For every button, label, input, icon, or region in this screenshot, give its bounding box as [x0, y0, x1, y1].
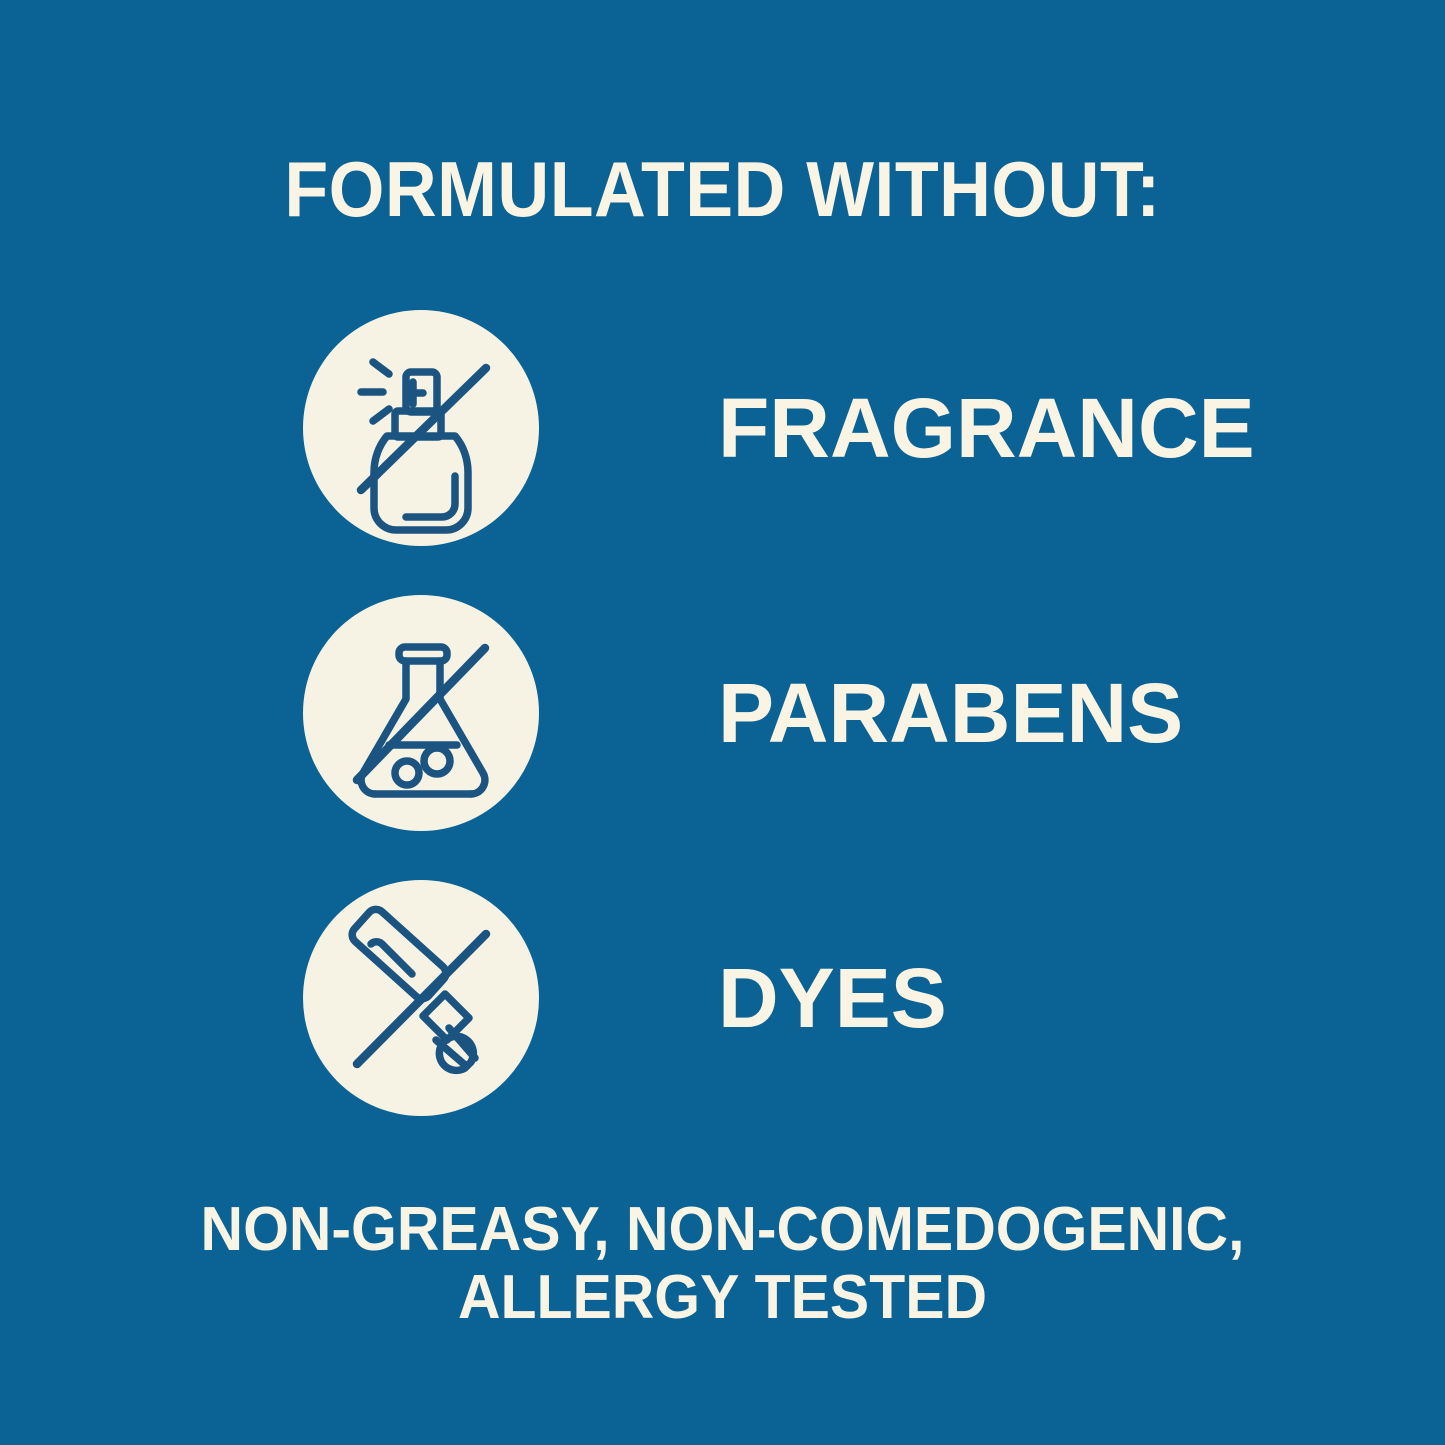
footer-claims-line-1: NON-GREASY, NON-COMEDOGENIC,: [36, 1196, 1409, 1264]
page-title: FORMULATED WITHOUT:: [58, 148, 1387, 230]
feature-row-parabens: PARABENS: [0, 593, 1445, 833]
no-parabens-flask-icon: [303, 595, 539, 831]
feature-row-fragrance: FRAGRANCE: [0, 308, 1445, 548]
feature-label-dyes: DYES: [718, 878, 947, 1118]
footer-claims: NON-GREASY, NON-COMEDOGENIC, ALLERGY TES…: [36, 1196, 1409, 1332]
feature-label-parabens: PARABENS: [718, 593, 1183, 833]
infographic-panel: FORMULATED WITHOUT:: [0, 0, 1445, 1445]
feature-row-dyes: DYES: [0, 878, 1445, 1118]
no-fragrance-spray-bottle-icon: [303, 310, 539, 546]
footer-claims-line-2: ALLERGY TESTED: [36, 1264, 1409, 1332]
feature-label-fragrance: FRAGRANCE: [718, 308, 1255, 548]
no-dyes-dropper-icon: [303, 880, 539, 1116]
